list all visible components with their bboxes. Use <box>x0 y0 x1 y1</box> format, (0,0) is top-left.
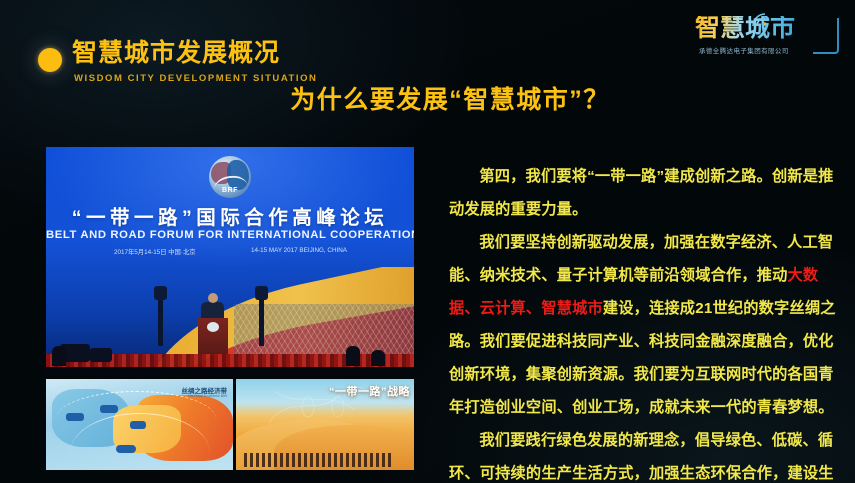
banner-title-cn: “一带一路”国际合作高峰论坛 <box>46 201 414 230</box>
company-logo: 智慧城市 承德全腾达电子集团有限公司 <box>689 12 839 60</box>
header-title-cn: 智慧城市发展概况 <box>72 41 280 66</box>
camera-rig <box>90 348 112 362</box>
map-node <box>130 421 146 429</box>
logo-bracket-decoration <box>813 18 839 54</box>
camera-operator <box>52 346 66 366</box>
body-text: 第四，我们要将“一带一路”建成创新之路。创新是推动发展的重要力量。 我们要坚持创… <box>449 160 845 483</box>
camera-operator <box>346 346 360 366</box>
map-node <box>66 413 84 421</box>
banner-dates: 2017年5月14-15日 中国·北京 14-15 MAY 2017 BEIJI… <box>46 247 414 261</box>
forum-banner-photo: BRF “一带一路”国际合作高峰论坛 BELT AND ROAD FORUM F… <box>46 147 414 376</box>
stage-floor <box>46 367 414 376</box>
paragraph-2-part-a: 我们要坚持创新驱动发展，加强在数字经济、人工智能、纳米技术、量子计算机等前沿领域… <box>449 234 833 284</box>
photo-panel: BRF “一带一路”国际合作高峰论坛 BELT AND ROAD FORUM F… <box>46 147 414 470</box>
thumbnail-row: 丝绸之路经济带 Silk Road Economic Belt “一带一路”战略 <box>46 379 414 470</box>
map-subtitle: Silk Road Economic Belt <box>188 394 227 398</box>
dot-icon <box>38 48 62 72</box>
podium <box>198 318 228 354</box>
desert-caravan-thumbnail: “一带一路”战略 <box>236 379 414 470</box>
brf-emblem-icon: BRF <box>209 156 251 198</box>
camera-operator <box>371 350 385 366</box>
paragraph-2: 我们要坚持创新驱动发展，加强在数字经济、人工智能、纳米技术、量子计算机等前沿领域… <box>449 226 845 424</box>
page-title: 为什么要发展“智慧城市”？ <box>0 80 855 116</box>
banner-date-cn: 2017年5月14-15日 中国·北京 <box>114 247 196 256</box>
stage-scene <box>46 267 414 376</box>
brf-emblem-text: BRF <box>209 187 251 194</box>
banner-title-en: BELT AND ROAD FORUM FOR INTERNATIONAL CO… <box>46 229 414 241</box>
desert-overlay-title: “一带一路”战略 <box>329 383 410 399</box>
company-logo-text: 智慧城市 <box>695 16 795 41</box>
map-node <box>116 445 136 453</box>
company-logo-subtitle: 承德全腾达电子集团有限公司 <box>699 45 789 55</box>
paragraph-2-part-b: 建设，连接成21世纪的数字丝绸之路。我们要促进科技同产业、科技同金融深度融合，优… <box>449 300 836 416</box>
paragraph-3: 我们要践行绿色发展的新理念，倡导绿色、低碳、循环、可持续的生产生活方式，加强生态… <box>449 424 845 483</box>
banner-date-en: 14-15 MAY 2017 BEIJING, CHINA <box>251 247 347 254</box>
slide-root: 智慧城市发展概况 WISDOM CITY DEVELOPMENT SITUATI… <box>0 0 855 483</box>
stage-lamp <box>259 296 264 346</box>
camel-caravan <box>244 453 394 467</box>
stage-lamp <box>158 296 163 346</box>
map-node <box>100 405 118 413</box>
silk-road-map-thumbnail: 丝绸之路经济带 Silk Road Economic Belt <box>46 379 233 470</box>
paragraph-1: 第四，我们要将“一带一路”建成创新之路。创新是推动发展的重要力量。 <box>449 160 845 226</box>
